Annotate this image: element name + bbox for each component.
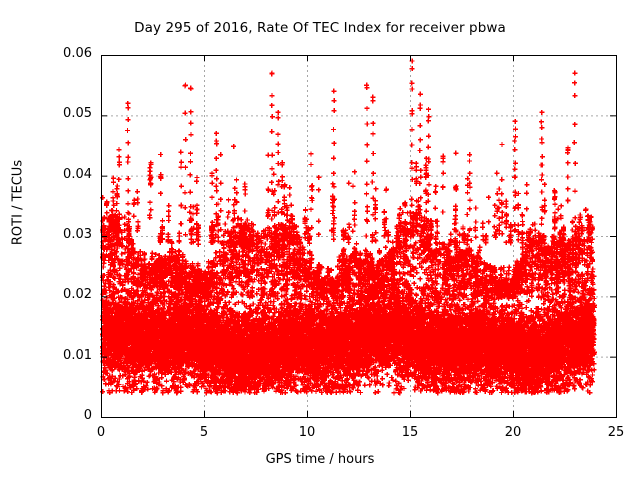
chart-canvas: Day 295 of 2016, Rate Of TEC Index for r… [0,0,640,480]
y-tick-label: 0.03 [63,227,92,242]
x-tick-label: 10 [282,425,332,440]
y-tick-label: 0.04 [63,167,92,182]
x-tick-label: 0 [76,425,126,440]
y-tick-label: 0.06 [63,46,92,61]
x-tick-label: 5 [179,425,229,440]
x-axis-title: GPS time / hours [0,452,640,467]
y-tick-label: 0.01 [63,348,92,363]
scatter-plot-svg [0,0,640,480]
y-tick-label: 0.02 [63,287,92,302]
y-axis-title: ROTI / TECUs [11,138,26,268]
data-points-layer [100,59,597,396]
x-tick-label: 25 [591,425,640,440]
y-tick-label: 0.05 [63,106,92,121]
x-tick-label: 15 [385,425,435,440]
y-tick-label: 0 [84,408,92,423]
x-tick-label: 20 [488,425,538,440]
